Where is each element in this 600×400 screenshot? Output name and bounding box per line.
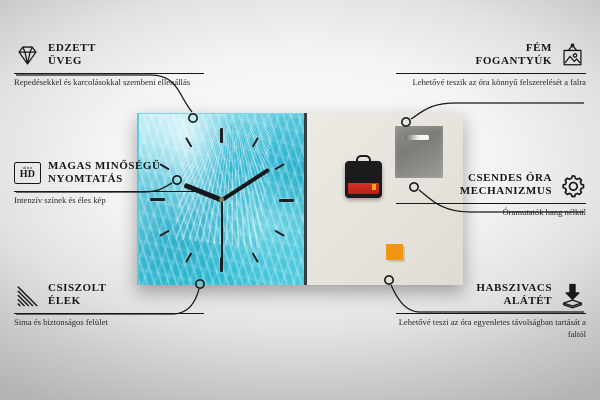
foam-pad-arrow-icon [559, 282, 586, 309]
clock-minute-hand [220, 167, 269, 201]
clock-mechanism [345, 161, 382, 198]
hanger-slot [405, 135, 429, 140]
feature-title: HABSZIVACS ALÁTÉT [476, 282, 552, 308]
feature-divider [396, 73, 586, 74]
feature-title: CSISZOLT ÉLEK [48, 282, 106, 308]
feature-description: Lehetővé teszik az óra könnyű felszerelé… [396, 77, 586, 89]
feature-description: Lehetővé teszi az óra egyenletes távolsá… [396, 317, 586, 340]
feature-divider [396, 203, 586, 204]
clock-center-cap [219, 197, 224, 202]
feature-head: HABSZIVACS ALÁTÉT [396, 280, 586, 310]
feature-title: FÉM FOGANTYÚK [476, 42, 552, 68]
feature-description: Intenzív színek és éles kép [14, 195, 204, 207]
feature-head: ultra HD MAGAS MINŐSÉGŰ NYOMTATÁS [14, 158, 204, 188]
feature-title: EDZETT ÜVEG [48, 42, 96, 68]
feature-silent-mechanism[interactable]: CSENDES ÓRA MECHANIZMUS Óramutatók hang … [396, 170, 586, 219]
ultra-hd-badge-icon: ultra HD [14, 162, 41, 184]
feature-title: MAGAS MINŐSÉGŰ NYOMTATÁS [48, 160, 161, 186]
battery [348, 183, 379, 194]
feature-head: FÉM FOGANTYÚK [396, 40, 586, 70]
clock-tick [222, 199, 296, 201]
feature-divider [14, 73, 204, 74]
hd-badge-main-text: HD [20, 170, 35, 180]
diamond-icon [14, 42, 41, 69]
feature-title: CSENDES ÓRA MECHANIZMUS [460, 172, 552, 198]
feature-polished-edges[interactable]: CSISZOLT ÉLEK Sima és biztonságos felüle… [14, 280, 204, 329]
picture-hanger-icon [559, 42, 586, 69]
feature-metal-handles[interactable]: FÉM FOGANTYÚK Lehetővé teszik az óra kön… [396, 40, 586, 89]
foam-pad-sample [386, 244, 403, 260]
feature-description: Repedésekkel és karcolásokkal szembeni e… [14, 77, 204, 89]
gear-icon [559, 172, 586, 199]
polished-edges-icon [14, 282, 41, 309]
feature-foam-pad[interactable]: HABSZIVACS ALÁTÉT Lehetővé teszi az óra … [396, 280, 586, 341]
feature-head: EDZETT ÜVEG [14, 40, 204, 70]
feature-head: CSENDES ÓRA MECHANIZMUS [396, 170, 586, 200]
feature-tempered-glass[interactable]: EDZETT ÜVEG Repedésekkel és karcolásokka… [14, 40, 204, 89]
feature-divider [14, 313, 204, 314]
feature-divider [396, 313, 586, 314]
feature-divider [14, 191, 204, 192]
feature-description: Óramutatók hang nélkül [396, 207, 586, 219]
feature-description: Sima és biztonságos felület [14, 317, 204, 329]
feature-high-quality-print[interactable]: ultra HD MAGAS MINŐSÉGŰ NYOMTATÁS Intenz… [14, 158, 204, 207]
feature-head: CSISZOLT ÉLEK [14, 280, 204, 310]
mechanism-hanging-loop [356, 155, 371, 164]
clock-second-hand [221, 200, 223, 262]
clock-tick [221, 126, 223, 200]
